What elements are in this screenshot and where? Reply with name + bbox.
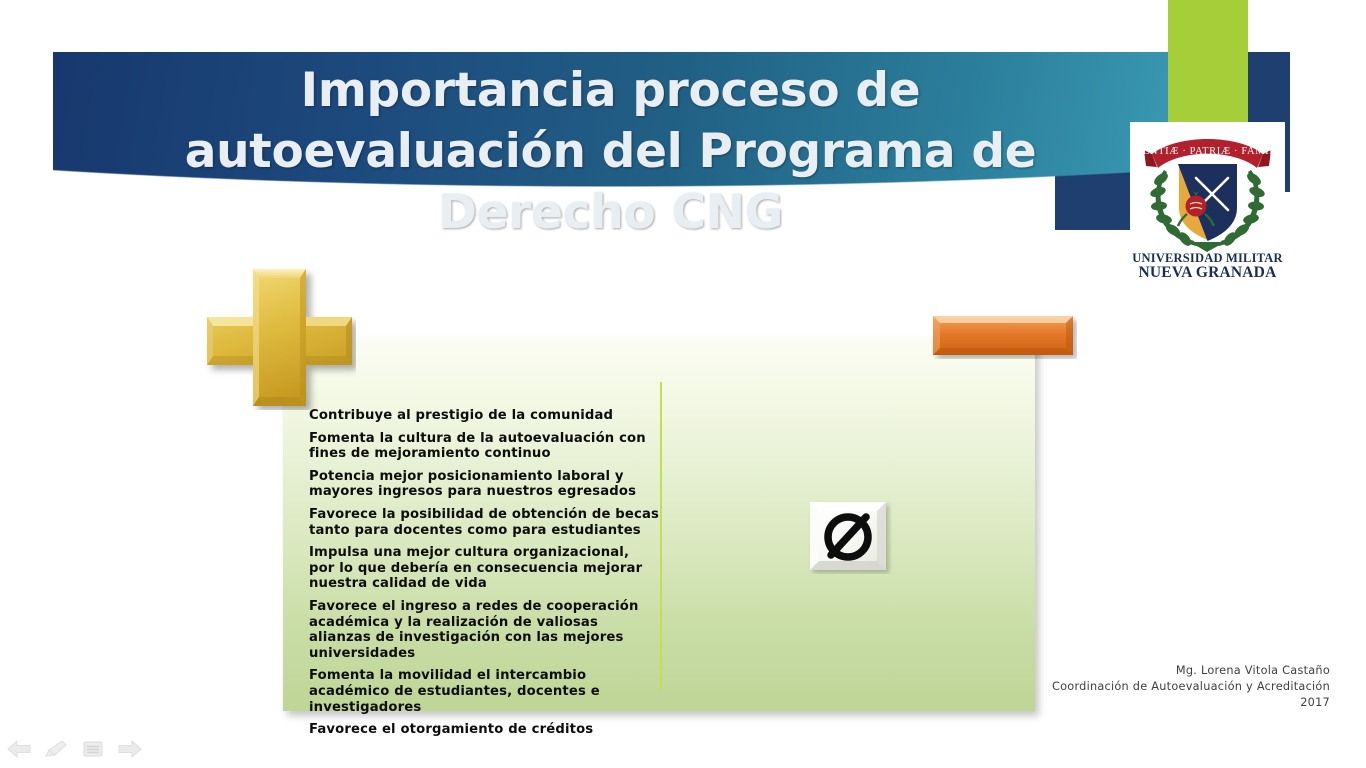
panel-vertical-divider [660,382,662,690]
title-line-1: Importancia proceso de [53,60,1168,121]
list-item: Fomenta la movilidad el intercambio acad… [309,668,659,715]
credit-year: 2017 [1052,695,1330,711]
list-item: Contribuye al prestigio de la comunidad [309,408,659,424]
credit-author: Mg. Lorena Vitola Castaño [1052,663,1330,679]
pen-icon[interactable] [43,739,69,759]
university-logo: SCIENTIÆ · PATRIÆ · FAMILIÆ UNIVERSIDAD … [1130,122,1285,290]
logo-line-1: UNIVERSIDAD MILITAR [1130,252,1285,266]
content-panel: Contribuye al prestigio de la comunidad … [283,337,1035,711]
list-item: Potencia mejor posicionamiento laboral y… [309,469,659,500]
arrow-right-icon[interactable] [117,739,143,759]
logo-motto-text: SCIENTIÆ · PATRIÆ · FAMILIÆ [1130,146,1285,157]
gold-plus-shape [203,265,356,410]
list-item: Fomenta la cultura de la autoevaluación … [309,431,659,462]
page-title: Importancia proceso de autoevaluación de… [53,60,1168,243]
list-item: Impulsa una mejor cultura organizacional… [309,545,659,592]
arrow-left-icon[interactable] [6,739,32,759]
list-item: Favorece el otorgamiento de créditos [309,722,659,738]
benefits-list: Contribuye al prestigio de la comunidad … [309,408,659,738]
logo-line-2: NUEVA GRANADA [1130,265,1285,282]
empty-set-icon [808,500,892,574]
title-banner: Importancia proceso de autoevaluación de… [53,52,1168,254]
university-crest-icon: SCIENTIÆ · PATRIÆ · FAMILIÆ [1130,122,1285,262]
orange-rectangle-shape [931,314,1077,359]
list-item: Favorece la posibilidad de obtención de … [309,507,659,538]
credit-department: Coordinación de Autoevaluación y Acredit… [1052,679,1330,695]
author-credit: Mg. Lorena Vitola Castaño Coordinación d… [1052,663,1330,711]
list-item: Favorece el ingreso a redes de cooperaci… [309,599,659,661]
title-line-2: autoevaluación del Programa de [53,121,1168,182]
slideshow-navigation-bar[interactable] [6,739,143,759]
title-line-3: Derecho CNG [53,182,1168,243]
logo-wordmark: UNIVERSIDAD MILITAR NUEVA GRANADA [1130,252,1285,282]
menu-icon[interactable] [80,739,106,759]
presentation-slide: Importancia proceso de autoevaluación de… [0,0,1366,768]
